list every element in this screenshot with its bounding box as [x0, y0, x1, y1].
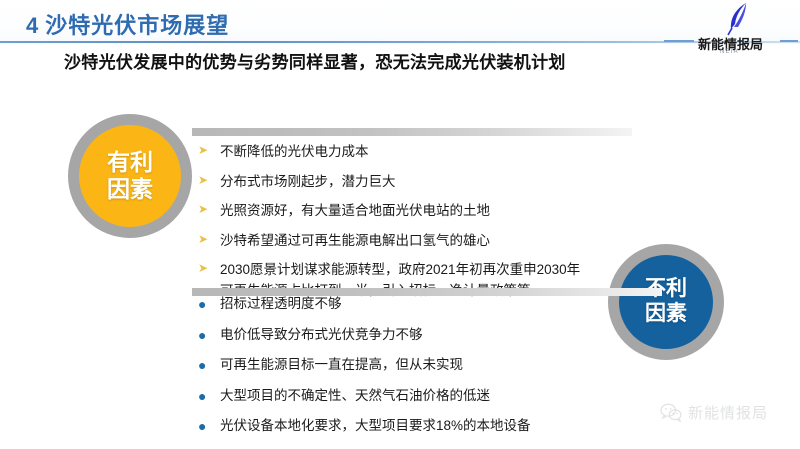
positive-divider-bar — [192, 128, 632, 136]
dot-bullet-icon: ● — [198, 416, 220, 436]
list-item-text: 电价低导致分布式光伏竞争力不够 — [220, 325, 628, 346]
slide-subtitle: 沙特光伏发展中的优势与劣势同样显著，恐无法完成光伏装机计划 — [64, 48, 566, 73]
list-item-text: 光照资源好，有大量适合地面光伏电站的土地 — [220, 201, 668, 222]
list-item-text: 不断降低的光伏电力成本 — [220, 142, 668, 163]
arrow-bullet-icon: ➤ — [198, 142, 220, 159]
list-item: ● 招标过程透明度不够 — [198, 294, 628, 315]
list-item-text: 光伏设备本地化要求，大型项目要求18%的本地设备 — [220, 416, 628, 437]
list-item-text: 沙特希望通过可再生能源电解出口氢气的雄心 — [220, 231, 668, 252]
list-item-text: 分布式市场刚起步，潜力巨大 — [220, 172, 668, 193]
slide-canvas: 4沙特光伏市场展望 新能情报局 NEIA 沙特光伏发展中的优势与劣势同样显著，恐… — [0, 0, 800, 449]
section-number: 4 — [26, 13, 39, 38]
wechat-icon — [660, 403, 682, 422]
list-item: ● 电价低导致分布式光伏竞争力不够 — [198, 325, 628, 346]
list-item: ➤ 分布式市场刚起步，潜力巨大 — [198, 172, 668, 193]
positive-factors-circle: 有利 因素 — [68, 114, 192, 238]
list-item: ➤ 光照资源好，有大量适合地面光伏电站的土地 — [198, 201, 668, 222]
page-title: 4沙特光伏市场展望 — [26, 8, 229, 40]
watermark-text: 新能情报局 — [688, 402, 768, 423]
dot-bullet-icon: ● — [198, 294, 220, 314]
positive-factors-list: ➤ 不断降低的光伏电力成本 ➤ 分布式市场刚起步，潜力巨大 ➤ 光照资源好，有大… — [198, 142, 668, 310]
list-item: ● 光伏设备本地化要求，大型项目要求18%的本地设备 — [198, 416, 628, 437]
list-item-text: 可再生能源目标一直在提高，但从未实现 — [220, 355, 628, 376]
list-item: ➤ 沙特希望通过可再生能源电解出口氢气的雄心 — [198, 231, 668, 252]
list-item: ● 可再生能源目标一直在提高，但从未实现 — [198, 355, 628, 376]
brand-logo: 新能情报局 NEIA — [672, 2, 792, 60]
logo-dash-left — [664, 40, 694, 42]
list-item-line1: 2030愿景计划谋求能源转型，政府2021年初再次重申2030年 — [220, 262, 580, 277]
positive-circle-label-line2: 因素 — [107, 176, 153, 203]
section-title-text: 沙特光伏市场展望 — [45, 13, 229, 38]
negative-factors-list: ● 招标过程透明度不够 ● 电价低导致分布式光伏竞争力不够 ● 可再生能源目标一… — [198, 294, 628, 447]
list-item: ➤ 不断降低的光伏电力成本 — [198, 142, 668, 163]
logo-abbr: NEIA — [720, 49, 739, 55]
list-item-text: 大型项目的不确定性、天然气石油价格的低迷 — [220, 386, 628, 407]
dot-bullet-icon: ● — [198, 355, 220, 375]
logo-dash-right — [780, 40, 798, 42]
dot-bullet-icon: ● — [198, 325, 220, 345]
arrow-bullet-icon: ➤ — [198, 231, 220, 248]
list-item: ● 大型项目的不确定性、天然气石油价格的低迷 — [198, 386, 628, 407]
arrow-bullet-icon: ➤ — [198, 201, 220, 218]
arrow-bullet-icon: ➤ — [198, 172, 220, 189]
feather-quill-icon — [726, 2, 752, 36]
dot-bullet-icon: ● — [198, 386, 220, 406]
watermark: 新能情报局 — [660, 402, 768, 423]
arrow-bullet-icon: ➤ — [198, 260, 220, 277]
positive-circle-label-line1: 有利 — [107, 149, 153, 176]
list-item-text: 招标过程透明度不够 — [220, 294, 628, 315]
negative-circle-label-line2: 因素 — [645, 302, 687, 327]
